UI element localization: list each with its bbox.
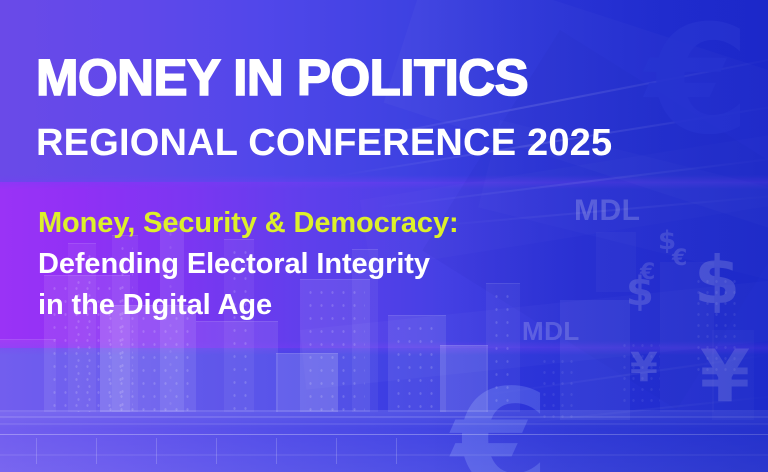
event-subtitle: REGIONAL CONFERENCE 2025	[36, 124, 612, 162]
headline-block: MONEY IN POLITICS REGIONAL CONFERENCE 20…	[0, 0, 768, 472]
theme-line-2: Defending Electoral Integrity	[38, 244, 459, 285]
page-title: MONEY IN POLITICS	[36, 52, 528, 103]
theme-line-3: in the Digital Age	[38, 285, 459, 326]
theme-line-1: Money, Security & Democracy:	[38, 203, 459, 244]
theme-block: Money, Security & Democracy: Defending E…	[38, 203, 459, 326]
conference-banner: € € ¥ ¥ $ $ $ € € MDL MDL	[0, 0, 768, 472]
